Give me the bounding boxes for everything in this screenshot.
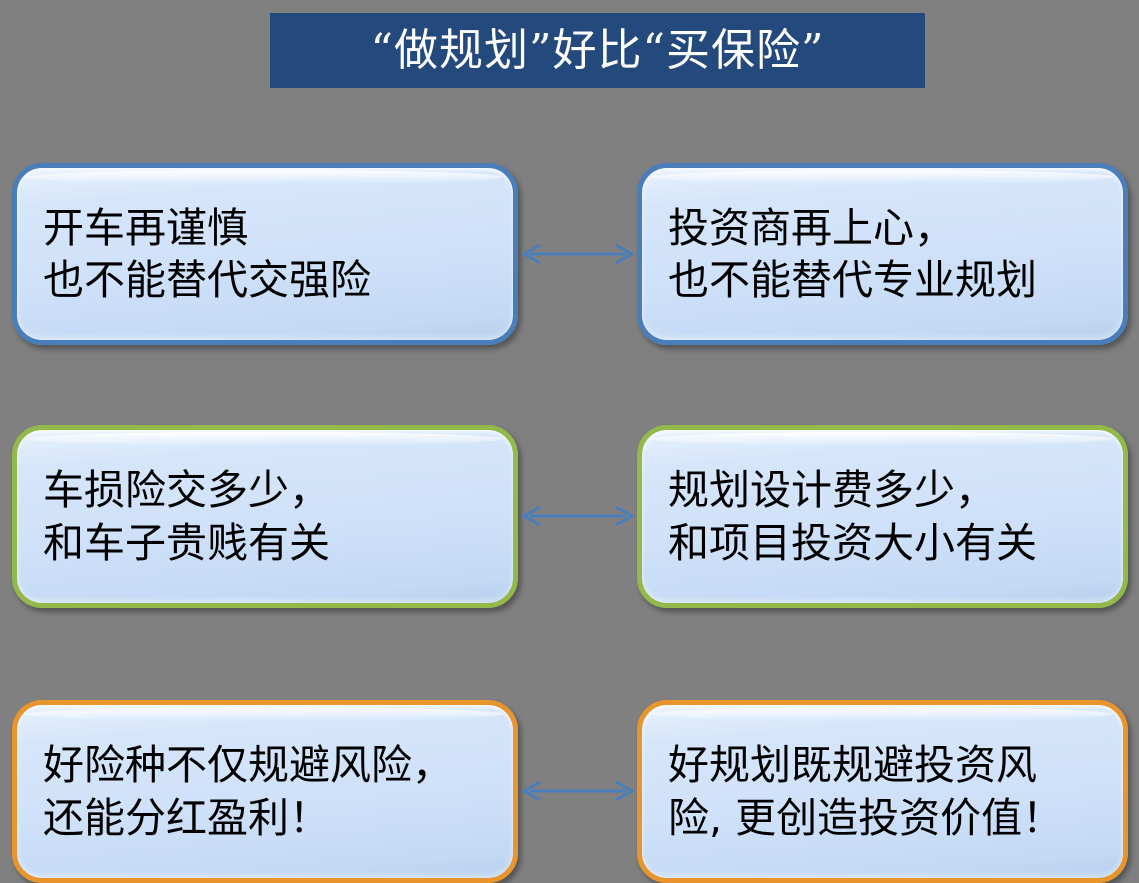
title-banner: “做规划”好比“买保险” bbox=[270, 13, 925, 88]
callout-text-row1-left: 开车再谨慎 也不能替代交强险 bbox=[17, 202, 383, 307]
slide-canvas: “做规划”好比“买保险” 开车再谨慎 也不能替代交强险 投资商再上心， 也不能替… bbox=[0, 0, 1139, 879]
callout-box-row3-right[interactable]: 好规划既规避投资风 险, 更创造投资价值！ bbox=[637, 700, 1128, 883]
callout-text-row3-left: 好险种不仅规避风险， 还能分红盈利！ bbox=[17, 739, 465, 844]
callout-box-row3-left[interactable]: 好险种不仅规避风险， 还能分红盈利！ bbox=[12, 700, 518, 883]
page-title: “做规划”好比“买保险” bbox=[371, 29, 825, 73]
callout-text-row1-right: 投资商再上心， 也不能替代专业规划 bbox=[642, 202, 1049, 307]
double-arrow-icon bbox=[516, 241, 640, 267]
connector-arrow-row2 bbox=[516, 503, 640, 529]
connector-arrow-row3 bbox=[516, 778, 640, 804]
callout-text-row3-right: 好规划既规避投资风 险, 更创造投资价值！ bbox=[642, 739, 1075, 844]
double-arrow-icon bbox=[516, 503, 640, 529]
callout-box-row2-left[interactable]: 车损险交多少， 和车子贵贱有关 bbox=[12, 425, 518, 608]
callout-box-row1-right[interactable]: 投资商再上心， 也不能替代专业规划 bbox=[637, 163, 1128, 345]
callout-text-row2-left: 车损险交多少， 和车子贵贱有关 bbox=[17, 464, 342, 569]
callout-box-row2-right[interactable]: 规划设计费多少， 和项目投资大小有关 bbox=[637, 425, 1128, 608]
callout-box-row1-left[interactable]: 开车再谨慎 也不能替代交强险 bbox=[12, 163, 518, 345]
connector-arrow-row1 bbox=[516, 241, 640, 267]
callout-text-row2-right: 规划设计费多少， 和项目投资大小有关 bbox=[642, 464, 1049, 569]
double-arrow-icon bbox=[516, 778, 640, 804]
